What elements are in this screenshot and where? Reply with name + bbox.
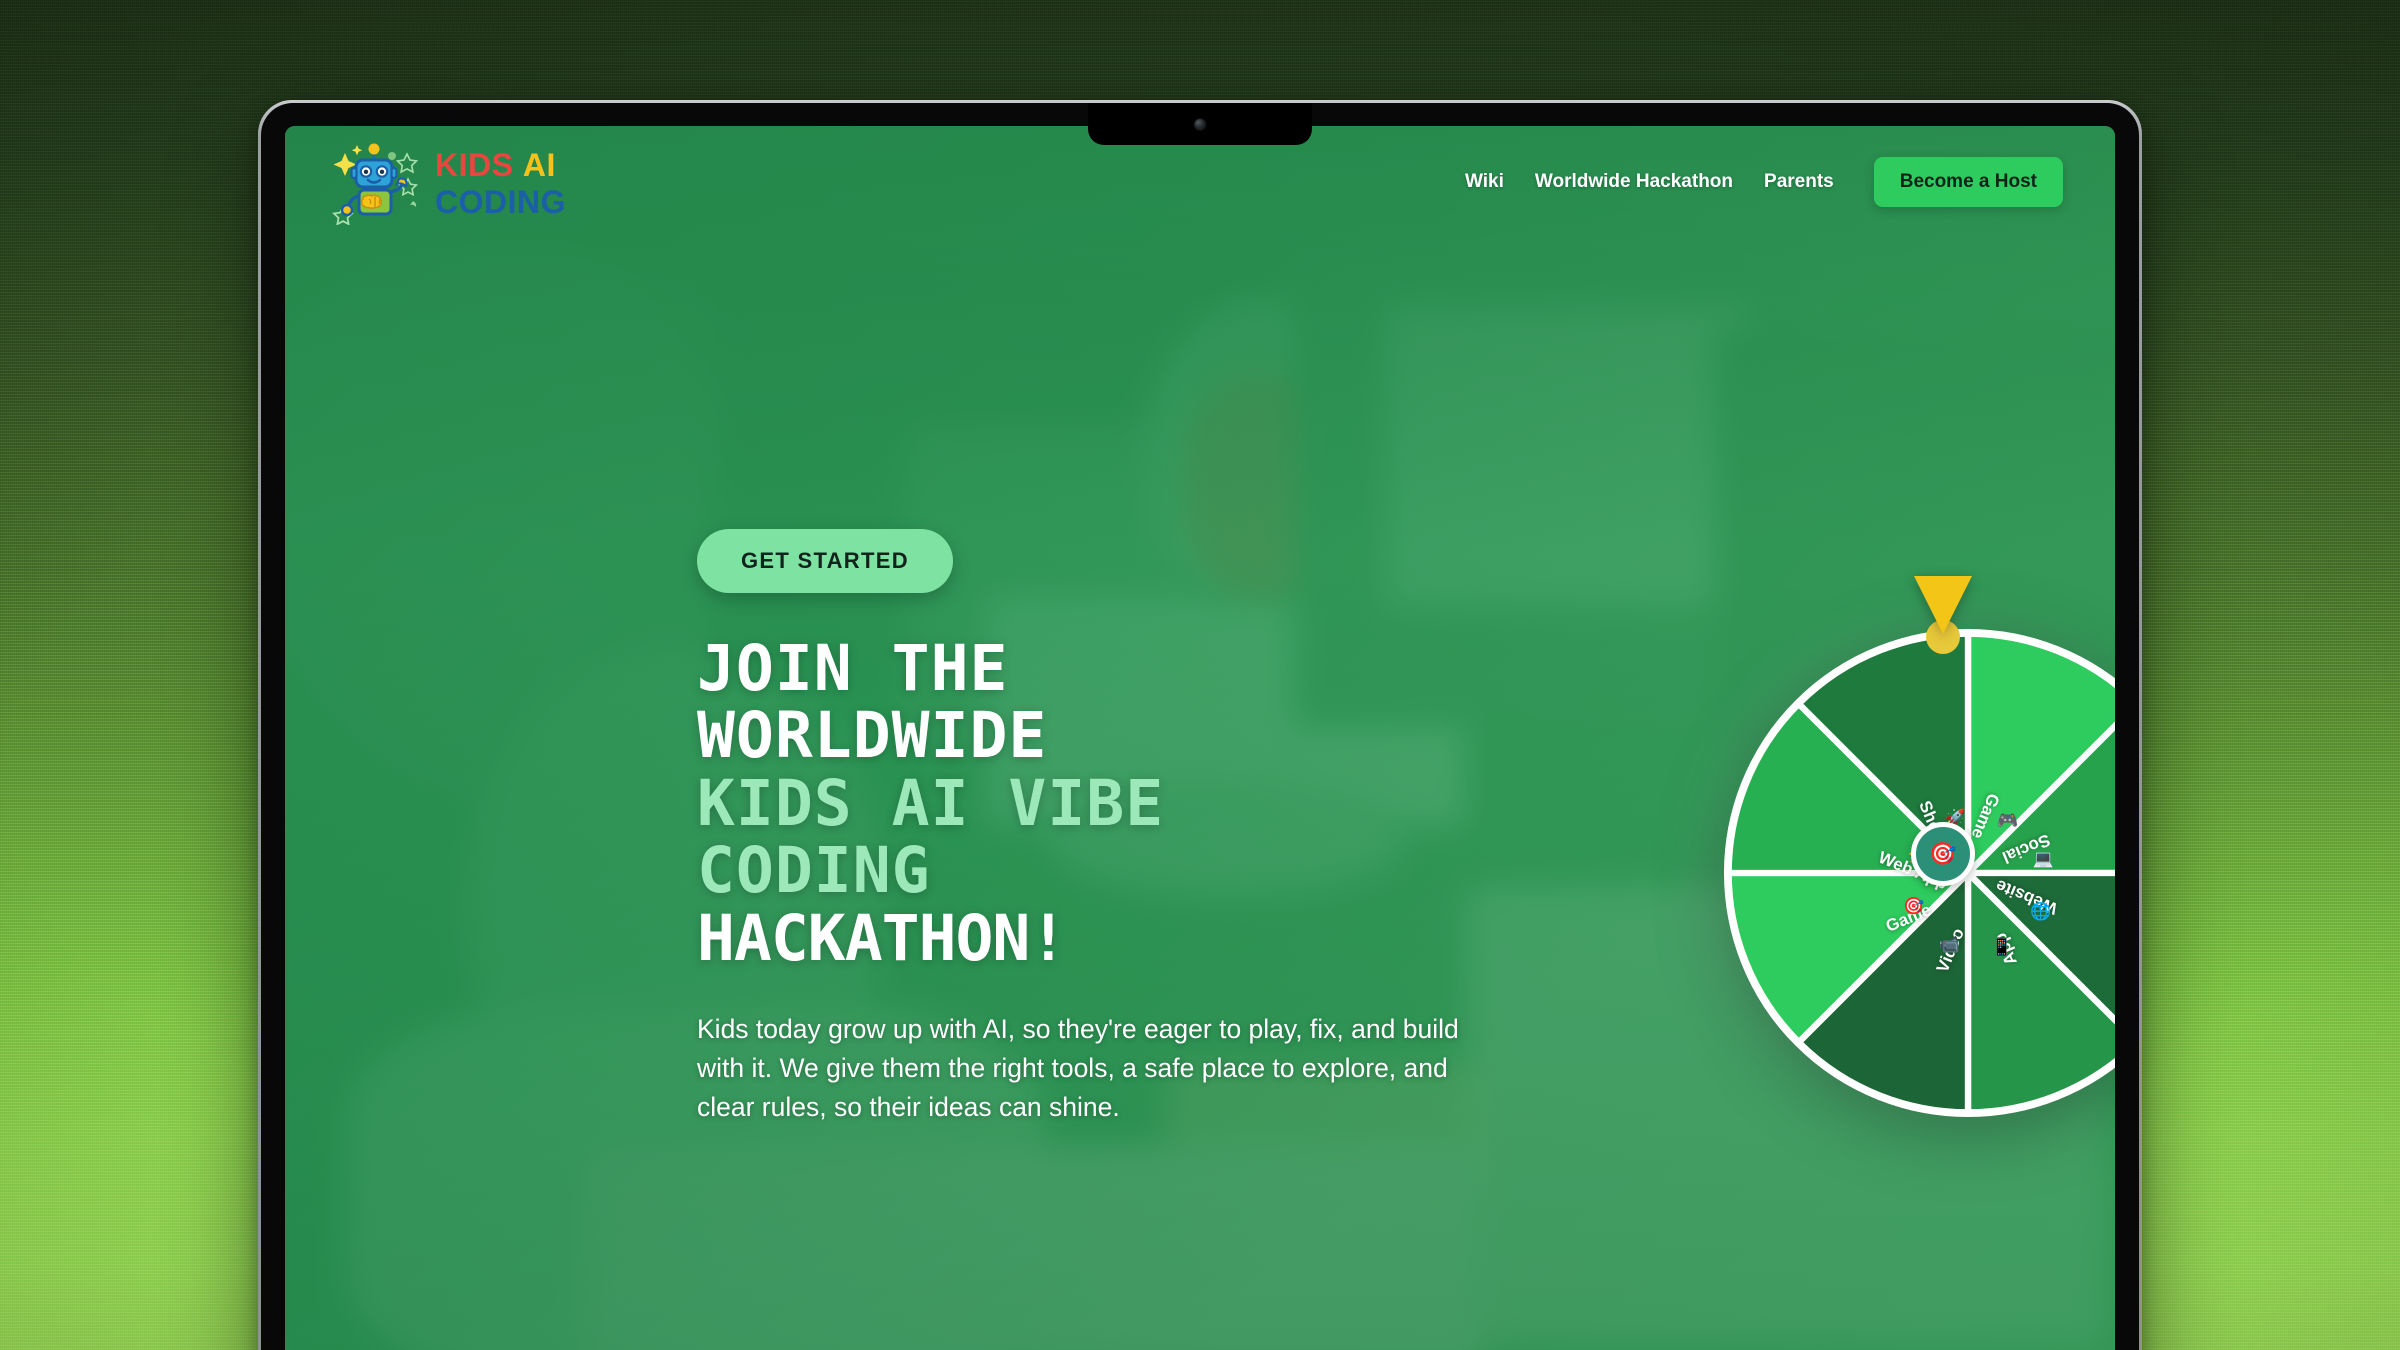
headline-line-1: JOIN THE <box>697 635 1527 702</box>
wheel-emoji-video-icon: 📹 <box>1939 935 1960 955</box>
hero-headline: JOIN THE WORLDWIDE KIDS AI VIBE CODING H… <box>697 635 1527 972</box>
logo-kids-text: KIDS <box>435 147 513 183</box>
nav-link-parents[interactable]: Parents <box>1764 171 1834 193</box>
wheel-emoji-game-icon: 🎮 <box>1997 811 2018 831</box>
site-logo[interactable]: KIDS AI CODING <box>329 139 566 225</box>
wheel-label-video: Video <box>1933 926 1969 976</box>
wheel-pointer-icon <box>1914 576 1972 634</box>
wheel-label-social: Social <box>1999 829 2053 867</box>
primary-navigation: Wiki Worldwide Hackathon Parents Become … <box>1465 157 2063 207</box>
robot-mascot-icon <box>329 139 421 225</box>
logo-ai-text: AI <box>523 147 556 183</box>
wheel-emoji-social-icon: 💻 <box>2033 850 2054 870</box>
logo-wordmark: KIDS AI CODING <box>435 147 566 218</box>
hero-section: GET STARTED JOIN THE WORLDWIDE KIDS AI V… <box>697 529 1527 1128</box>
hero-paragraph: Kids today grow up with AI, so they're e… <box>697 1010 1497 1128</box>
headline-line-5: HACKATHON! <box>697 905 1527 972</box>
webcam-icon <box>1195 119 1206 130</box>
headline-line-3: KIDS AI VIBE <box>697 770 1527 837</box>
nav-link-worldwide-hackathon[interactable]: Worldwide Hackathon <box>1535 171 1733 193</box>
get-started-button[interactable]: GET STARTED <box>697 529 953 593</box>
wheel-label-game: Game <box>1967 790 2004 841</box>
wheel-label-website: Website <box>1993 875 2061 918</box>
laptop-mockup: KIDS AI CODING Wiki Worldwide Hackathon … <box>258 100 2142 1350</box>
spin-wheel[interactable]: Game🎮Social💻Website🌐App📱Video📹Game🎯Web A… <box>1693 604 2115 1104</box>
wheel-emoji-website-icon: 🌐 <box>2030 902 2051 922</box>
nav-link-wiki[interactable]: Wiki <box>1465 171 1504 193</box>
laptop-notch <box>1088 103 1312 145</box>
browser-viewport: KIDS AI CODING Wiki Worldwide Hackathon … <box>285 126 2115 1350</box>
headline-line-2: WORLDWIDE <box>697 702 1527 769</box>
logo-line-1: KIDS AI <box>435 149 566 181</box>
headline-line-4: CODING <box>697 837 1527 904</box>
wheel-emoji-app-icon: 📱 <box>1991 938 2012 958</box>
wheel-label-game: Game <box>1883 900 1934 937</box>
wheel-label-app: App <box>1991 930 2022 968</box>
logo-coding-text: CODING <box>435 186 566 218</box>
laptop-bezel: KIDS AI CODING Wiki Worldwide Hackathon … <box>261 103 2139 1350</box>
wheel-hub[interactable]: 🎯 <box>1911 822 1975 886</box>
become-a-host-button[interactable]: Become a Host <box>1874 157 2063 207</box>
wheel-emoji-game-icon: 🎯 <box>1903 896 1924 916</box>
